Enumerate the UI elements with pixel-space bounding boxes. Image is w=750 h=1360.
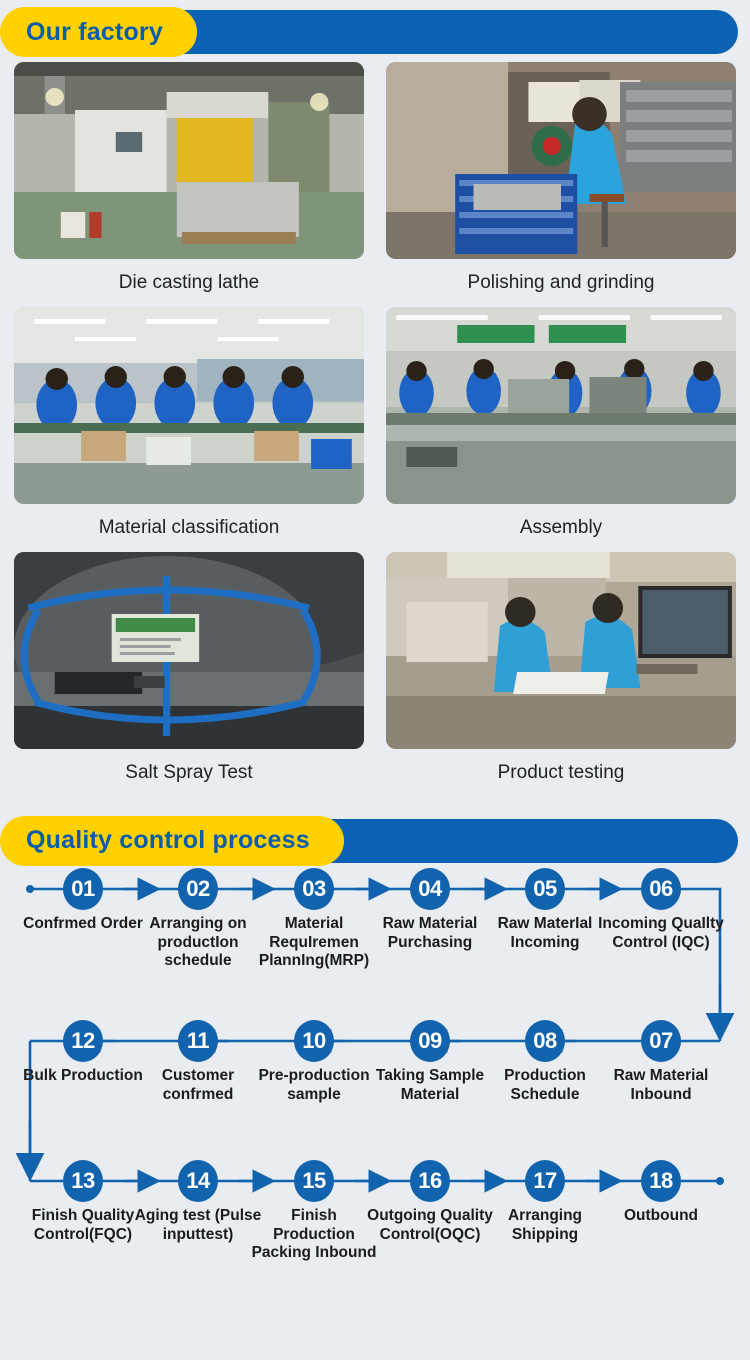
- quality-section-banner: Quality control process: [12, 819, 738, 863]
- gallery-caption: Die casting lathe: [119, 259, 259, 307]
- gallery-item: Polishing and grinding: [386, 62, 736, 307]
- factory-photo-gallery: Die casting lathe: [0, 54, 750, 797]
- factory-section-banner: Our factory: [12, 10, 738, 54]
- product-testing-photo: [386, 552, 736, 749]
- flow-node-14[interactable]: 14: [178, 1160, 218, 1202]
- flow-node-01[interactable]: 01: [63, 868, 103, 910]
- gallery-item: Material classification: [14, 307, 364, 552]
- flow-node-06[interactable]: 06: [641, 868, 681, 910]
- gallery-item: Product testing: [386, 552, 736, 797]
- flow-node-12[interactable]: 12: [63, 1020, 103, 1062]
- die-casting-lathe-photo: [14, 62, 364, 259]
- gallery-caption: Assembly: [520, 504, 602, 552]
- flow-label-08: Production Schedule: [481, 1067, 609, 1105]
- flow-label-07: Raw Material Inbound: [597, 1067, 725, 1105]
- flow-label-03: Material RequIremen PlannIng(MRP): [250, 915, 378, 972]
- flow-node-18[interactable]: 18: [641, 1160, 681, 1202]
- flow-label-05: Raw MaterIal Incoming: [481, 915, 609, 953]
- gallery-caption: Polishing and grinding: [468, 259, 655, 307]
- quality-section-pill: Quality control process: [0, 816, 344, 866]
- flow-label-02: Arranging on productIon schedule: [134, 915, 262, 972]
- gallery-item: Salt Spray Test: [14, 552, 364, 797]
- flow-node-03[interactable]: 03: [294, 868, 334, 910]
- flow-node-10[interactable]: 10: [294, 1020, 334, 1062]
- flow-label-09: Taking Sample Material: [366, 1067, 494, 1105]
- flow-node-11[interactable]: 11: [178, 1020, 218, 1062]
- quality-control-flowchart: 01 02 03 04 05 06 Confrmed Order Arrangi…: [0, 863, 750, 1293]
- flow-label-06: Incoming QuaIlty Control (IQC): [597, 915, 725, 953]
- factory-section-pill: Our factory: [0, 7, 197, 57]
- flow-node-07[interactable]: 07: [641, 1020, 681, 1062]
- flow-label-17: Arranging Shipping: [481, 1207, 609, 1245]
- flow-label-16: Outgoing Quality Control(OQC): [366, 1207, 494, 1245]
- flow-node-02[interactable]: 02: [178, 868, 218, 910]
- polishing-and-grinding-photo: [386, 62, 736, 259]
- flow-node-04[interactable]: 04: [410, 868, 450, 910]
- flow-label-11: Customer confrmed: [134, 1067, 262, 1105]
- flow-label-04: Raw Material Purchasing: [366, 915, 494, 953]
- flow-label-10: Pre-production sample: [250, 1067, 378, 1105]
- gallery-item: Assembly: [386, 307, 736, 552]
- material-classification-photo: [14, 307, 364, 504]
- flow-node-09[interactable]: 09: [410, 1020, 450, 1062]
- flow-label-15: Finish Production Packing Inbound: [250, 1207, 378, 1264]
- gallery-item: Die casting lathe: [14, 62, 364, 307]
- flow-label-14: Aging test (Pulse inputtest): [134, 1207, 262, 1245]
- quality-section-title: Quality control process: [26, 826, 310, 855]
- flow-node-13[interactable]: 13: [63, 1160, 103, 1202]
- assembly-photo: [386, 307, 736, 504]
- gallery-caption: Material classification: [99, 504, 280, 552]
- flow-node-15[interactable]: 15: [294, 1160, 334, 1202]
- flow-label-01: Confrmed Order: [19, 915, 147, 934]
- gallery-caption: Salt Spray Test: [125, 749, 252, 797]
- flow-label-13: Finish Quality Control(FQC): [19, 1207, 147, 1245]
- flow-label-18: Outbound: [597, 1207, 725, 1226]
- flow-node-16[interactable]: 16: [410, 1160, 450, 1202]
- gallery-caption: Product testing: [498, 749, 625, 797]
- flow-node-17[interactable]: 17: [525, 1160, 565, 1202]
- page-root: Our factory: [0, 10, 750, 1360]
- flow-label-12: Bulk Production: [19, 1067, 147, 1086]
- flow-node-08[interactable]: 08: [525, 1020, 565, 1062]
- flow-node-05[interactable]: 05: [525, 868, 565, 910]
- salt-spray-test-photo: [14, 552, 364, 749]
- factory-section-title: Our factory: [26, 18, 163, 47]
